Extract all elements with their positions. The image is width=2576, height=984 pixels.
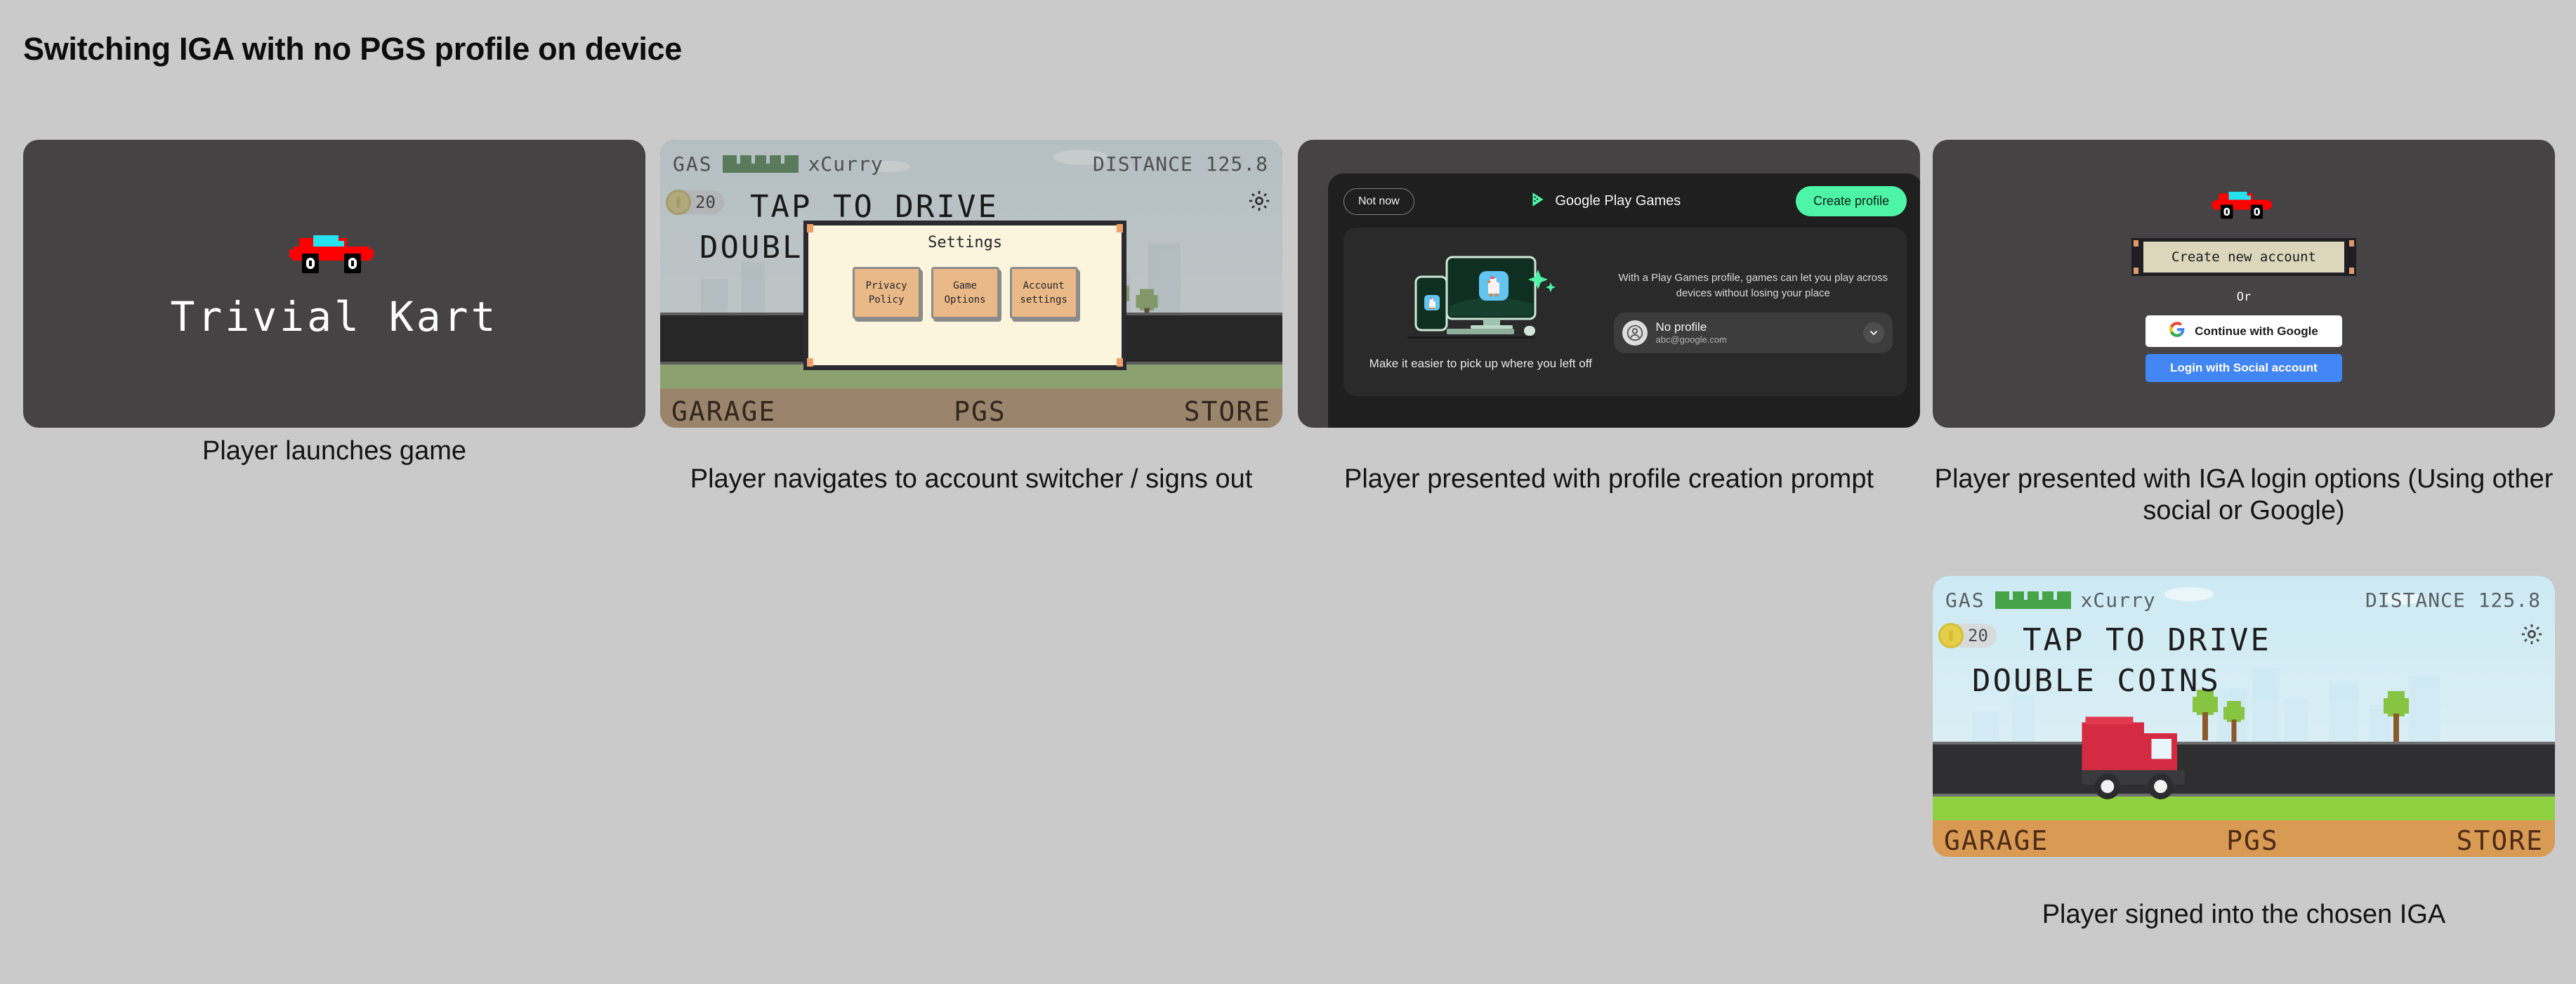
cross-device-illustration-icon: [1400, 251, 1560, 348]
caption-settings: Player navigates to account switcher / s…: [660, 464, 1282, 495]
tap-to-drive-label: TAP TO DRIVE: [750, 189, 999, 225]
continue-with-google-button[interactable]: Continue with Google: [2145, 315, 2342, 347]
pgs-card: Not now Google Play Games Create profile: [1328, 173, 1920, 428]
panel-settings-dialog: GAS xCurry DISTANCE 125.8 20 TAP TO DRIV…: [660, 140, 1282, 428]
privacy-policy-button[interactable]: Privacy Policy: [853, 267, 921, 319]
gas-bar: [1995, 591, 2071, 609]
car-name-label: xCurry: [808, 152, 883, 176]
red-truck-sprite: [2072, 715, 2198, 802]
coin-icon: [666, 190, 691, 215]
road: [1933, 742, 2555, 796]
dialog-corner-nub: [807, 358, 813, 367]
game-navbar[interactable]: GARAGE PGS STORE: [1933, 825, 2555, 857]
caption-splash: Player launches game: [23, 435, 645, 467]
gear-icon[interactable]: [1247, 189, 1271, 213]
gas-bar: [723, 155, 799, 173]
google-logo-icon: [2169, 322, 2185, 341]
not-now-button[interactable]: Not now: [1343, 188, 1414, 215]
coin-icon: [1938, 623, 1964, 648]
distance-label: DISTANCE 125.8: [1093, 152, 1268, 176]
nav-store[interactable]: STORE: [1184, 396, 1271, 427]
pgs-description: With a Play Games profile, games can let…: [1614, 270, 1893, 301]
hud-top-bar: GAS xCurry DISTANCE 125.8: [1933, 576, 2555, 624]
nav-garage[interactable]: GARAGE: [1944, 825, 2049, 856]
coin-counter: 20: [673, 190, 724, 214]
gas-label: GAS: [1945, 589, 1985, 612]
game-options-button[interactable]: Game Options: [931, 267, 999, 319]
panel-splash-screen: Trivial Kart: [23, 140, 645, 428]
profile-selector-chip[interactable]: No profile abc@google.com: [1614, 313, 1893, 353]
grass-strip: [1933, 796, 2555, 822]
nav-pgs[interactable]: PGS: [954, 396, 1006, 427]
dialog-corner-nub: [807, 224, 813, 232]
pgs-body: Make it easier to pick up where you left…: [1343, 228, 1907, 396]
login-with-social-button[interactable]: Login with Social account: [2145, 354, 2342, 382]
create-new-account-button[interactable]: Create new account: [2143, 238, 2344, 276]
red-pixel-car-icon: [2209, 185, 2279, 225]
page-title: Switching IGA with no PGS profile on dev…: [23, 31, 682, 67]
panel-signed-in-game: GAS xCurry DISTANCE 125.8 20 TAP TO DRIV…: [1933, 576, 2555, 857]
button-corner-nub: [2349, 268, 2354, 274]
button-corner-nub: [2134, 268, 2138, 274]
nav-garage[interactable]: GARAGE: [671, 396, 776, 427]
coin-counter: 20: [1945, 624, 1997, 648]
nav-store[interactable]: STORE: [2457, 825, 2544, 856]
panel-iga-login: Create new account Or Continue with Goog…: [1933, 140, 2555, 428]
caption-signedin: Player signed into the chosen IGA: [1933, 899, 2555, 931]
profile-email: abc@google.com: [1656, 334, 1855, 345]
game-scene: GAS xCurry DISTANCE 125.8 20 TAP TO DRIV…: [1933, 576, 2555, 857]
hud-top-bar: GAS xCurry DISTANCE 125.8: [660, 140, 1282, 189]
pgs-illustration-column: Make it easier to pick up where you left…: [1358, 239, 1604, 385]
coin-count: 20: [1968, 626, 1988, 645]
dialog-button-row: Privacy Policy Game Options Account sett…: [808, 267, 1122, 319]
button-corner-nub: [2349, 240, 2354, 247]
gas-label: GAS: [673, 152, 713, 176]
tree-icon: [2382, 690, 2410, 746]
double-coins-label: DOUBLE COINS: [1972, 663, 2221, 699]
chevron-down-icon[interactable]: [1863, 322, 1884, 343]
caption-iga: Player presented with IGA login options …: [1933, 464, 2555, 527]
profile-name: No profile: [1656, 320, 1855, 334]
pgs-header: Not now Google Play Games Create profile: [1343, 186, 1907, 216]
red-pixel-car-icon: [285, 227, 383, 277]
play-games-logo-icon: [1529, 190, 1547, 213]
iga-inner: Create new account Or Continue with Goog…: [1933, 140, 2555, 428]
pgs-brand-label: Google Play Games: [1555, 193, 1681, 209]
dialog-corner-nub: [1117, 358, 1123, 367]
car-name-label: xCurry: [2081, 589, 2156, 612]
pgs-brand: Google Play Games: [1529, 190, 1681, 213]
panel-pgs-profile-prompt: Not now Google Play Games Create profile: [1298, 140, 1920, 428]
profile-text: No profile abc@google.com: [1656, 320, 1855, 345]
tree-icon: [2222, 701, 2246, 746]
distance-label: DISTANCE 125.8: [2365, 589, 2541, 612]
account-settings-button[interactable]: Account settings: [1010, 267, 1078, 319]
caption-pgs: Player presented with profile creation p…: [1298, 464, 1920, 495]
nav-pgs[interactable]: PGS: [2226, 825, 2279, 856]
pgs-illustration-caption: Make it easier to pick up where you left…: [1369, 356, 1592, 372]
game-title: Trivial Kart: [170, 293, 498, 341]
settings-dialog: Settings Privacy Policy Game Options Acc…: [803, 221, 1127, 370]
create-new-account-label: Create new account: [2171, 249, 2316, 265]
gear-icon[interactable]: [2520, 622, 2544, 646]
avatar-icon: [1622, 320, 1648, 346]
game-navbar[interactable]: GARAGE PGS STORE: [660, 395, 1282, 428]
splash-inner: Trivial Kart: [23, 140, 645, 428]
dialog-corner-nub: [1117, 224, 1123, 232]
dialog-title: Settings: [808, 234, 1122, 251]
pgs-detail-column: With a Play Games profile, games can let…: [1614, 239, 1893, 385]
coin-count: 20: [695, 192, 716, 212]
create-profile-button[interactable]: Create profile: [1796, 186, 1907, 216]
continue-with-google-label: Continue with Google: [2195, 324, 2318, 339]
button-corner-nub: [2134, 240, 2138, 247]
or-separator-label: Or: [2237, 290, 2251, 304]
tap-to-drive-label: TAP TO DRIVE: [2023, 622, 2271, 658]
